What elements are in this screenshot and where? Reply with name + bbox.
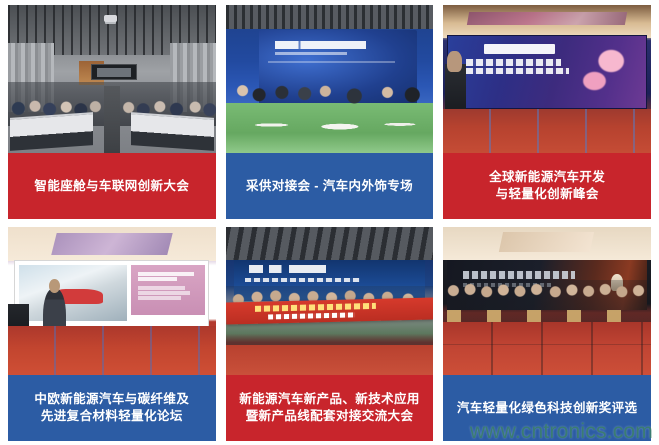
ballroom-ceiling <box>8 227 216 261</box>
speaker-figure <box>447 51 462 72</box>
event-caption-banner-1: 智能座舱与车联网创新大会 <box>8 153 216 219</box>
backdrop-title-bar <box>245 278 360 282</box>
slide-line-4 <box>138 291 189 295</box>
award-ceremony-group-photo <box>443 227 651 375</box>
supply-matchmaking-booth-photo <box>226 5 434 153</box>
screen-chinese-line-2 <box>466 68 569 74</box>
banner-main-text <box>255 302 376 311</box>
screen-chinese-line-1 <box>466 59 561 65</box>
event-caption-text-3: 全球新能源汽车开发 与轻量化创新峰会 <box>489 169 605 203</box>
event-caption-banner-2: 采供对接会 - 汽车内外饰专场 <box>226 153 434 219</box>
ballroom-ceiling <box>443 5 651 38</box>
group-photo-red-banner <box>226 227 434 375</box>
red-carpet-floor <box>226 345 434 375</box>
event-caption-text-6: 汽车轻量化绿色科技创新奖评选 <box>457 400 638 417</box>
backdrop-title-bar <box>463 271 575 279</box>
banner-sub-text <box>267 312 354 319</box>
right-desk-row <box>131 112 214 150</box>
event-caption-text-2: 采供对接会 - 汽车内外饰专场 <box>246 178 413 195</box>
led-stage-screen <box>447 35 646 109</box>
event-caption-banner-6: 汽车轻量化绿色科技创新奖评选 <box>443 375 651 441</box>
event-caption-text-5: 新能源汽车新产品、新技术应用 暨新产品线配套对接交流大会 <box>239 391 420 425</box>
red-carpet-stage <box>443 109 651 153</box>
center-aisle <box>104 86 121 153</box>
red-ribbon-banner <box>226 297 434 324</box>
keynote-speaker-stage-photo <box>8 227 216 375</box>
ceiling-truss <box>226 5 434 29</box>
screen-ribbon-graphic <box>571 46 638 96</box>
left-desk-row <box>10 112 93 150</box>
red-carpet-stage <box>8 326 216 375</box>
event-caption-text-4: 中欧新能源汽车与碳纤维及 先进复合材料轻量化论坛 <box>34 391 189 425</box>
event-card-2[interactable]: 采供对接会 - 汽车内外饰专场 <box>226 5 434 219</box>
slide-line-1 <box>138 272 194 276</box>
event-caption-banner-5: 新能源汽车新产品、新技术应用 暨新产品线配套对接交流大会 <box>226 375 434 441</box>
red-carpet-stage <box>443 322 651 375</box>
slide-line-5 <box>138 296 181 300</box>
screen-glev-title <box>484 44 555 53</box>
event-card-3[interactable]: 全球新能源汽车开发 与轻量化创新峰会 <box>443 5 651 219</box>
event-card-1[interactable]: 智能座舱与车联网创新大会 <box>8 5 216 219</box>
round-tables <box>226 109 434 142</box>
event-caption-banner-4: 中欧新能源汽车与碳纤维及 先进复合材料轻量化论坛 <box>8 375 216 441</box>
backdrop-footer-line <box>268 61 394 63</box>
event-card-6[interactable]: 汽车轻量化绿色科技创新奖评选 <box>443 227 651 441</box>
backdrop-title-bar <box>275 41 367 49</box>
ballroom-ceiling <box>443 227 651 260</box>
backdrop-subtitle-bar <box>275 52 348 55</box>
event-card-5[interactable]: 新能源汽车新产品、新技术应用 暨新产品线配套对接交流大会 <box>226 227 434 441</box>
slide-line-3 <box>138 286 185 290</box>
conference-hall-audience-photo <box>8 5 216 153</box>
slide-photo-area <box>19 265 127 322</box>
presentation-screen <box>91 64 137 80</box>
glev-2021-stage-photo <box>443 5 651 153</box>
projector-icon <box>104 15 117 22</box>
event-caption-banner-3: 全球新能源汽车开发 与轻量化创新峰会 <box>443 153 651 219</box>
event-card-4[interactable]: 中欧新能源汽车与碳纤维及 先进复合材料轻量化论坛 <box>8 227 216 441</box>
exhibition-hall-roof <box>226 227 434 260</box>
sponsor-logo-row <box>249 265 325 272</box>
slide-text-panel <box>131 265 204 315</box>
event-caption-text-1: 智能座舱与车联网创新大会 <box>34 178 189 195</box>
slide-line-2 <box>138 277 176 281</box>
event-gallery-grid: 智能座舱与车联网创新大会 采供对接会 - 汽车内外饰专场 <box>0 0 659 445</box>
